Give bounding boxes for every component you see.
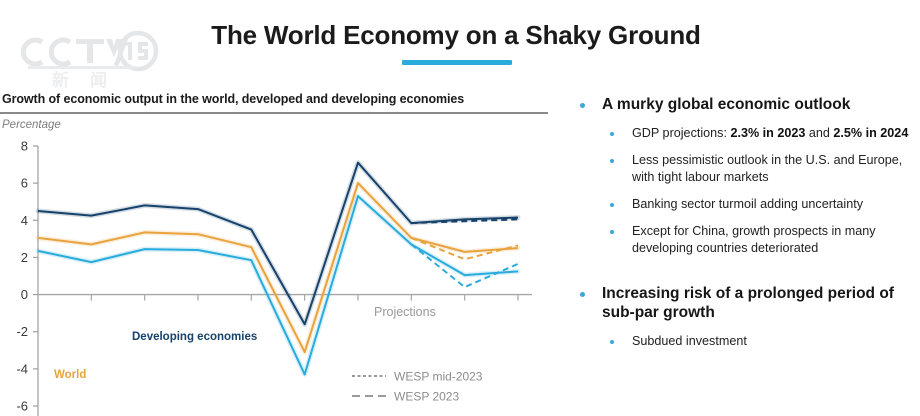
chart-subtitle: Growth of economic output in the world, … bbox=[2, 92, 464, 106]
bullet-text-run: Except for China, growth prospects in ma… bbox=[632, 224, 876, 254]
bullet-secondary: Banking sector turmoil adding uncertaint… bbox=[570, 196, 920, 212]
bullet-secondary-text: GDP projections: 2.3% in 2023 and 2.5% i… bbox=[632, 125, 920, 141]
y-tick-label: 6 bbox=[21, 176, 28, 191]
chart-units-label: Percentage bbox=[2, 119, 61, 131]
bullet-primary-text: Increasing risk of a prolonged period of… bbox=[602, 285, 920, 323]
bullet-secondary: Less pessimistic outlook in the U.S. and… bbox=[570, 152, 920, 185]
chart-panel: Growth of economic output in the world, … bbox=[0, 88, 552, 416]
bullet-secondary-text: Banking sector turmoil adding uncertaint… bbox=[632, 196, 920, 212]
bullet-secondary-text: Less pessimistic outlook in the U.S. and… bbox=[632, 152, 920, 185]
page-title: The World Economy on a Shaky Ground bbox=[176, 20, 736, 51]
svg-text:闻: 闻 bbox=[90, 70, 107, 88]
legend-label: WESP mid-2023 bbox=[394, 370, 483, 384]
bullet-text-run: Less pessimistic outlook in the U.S. and… bbox=[632, 153, 902, 183]
svg-text:新: 新 bbox=[52, 70, 69, 88]
bullet-text-run: and bbox=[805, 126, 833, 140]
bullet-dot-icon bbox=[610, 159, 614, 163]
bullet-secondary-text: Subdued investment bbox=[632, 333, 920, 349]
bullet-group-spacer bbox=[570, 267, 920, 285]
bullet-panel: A murky global economic outlookGDP proje… bbox=[570, 96, 920, 416]
bullet-dot-icon bbox=[610, 132, 614, 136]
y-tick-label: -2 bbox=[16, 324, 28, 339]
legend-label: WESP 2023 bbox=[394, 390, 459, 404]
series-annotation: Developing economies bbox=[132, 331, 257, 343]
slide-root: 新 闻 The World Economy on a Shaky Ground … bbox=[0, 0, 920, 416]
y-tick-label: 0 bbox=[21, 287, 28, 302]
y-tick-label: 4 bbox=[21, 213, 28, 228]
y-tick-label: 2 bbox=[21, 250, 28, 265]
bullet-dot-icon bbox=[610, 203, 614, 207]
title-underline-rule bbox=[402, 60, 512, 65]
series-annotation: World bbox=[54, 369, 86, 381]
chart-divider bbox=[0, 112, 548, 114]
cctv13-logo-watermark: 新 闻 bbox=[14, 18, 164, 88]
bullet-primary: Increasing risk of a prolonged period of… bbox=[570, 285, 920, 323]
bullet-secondary: GDP projections: 2.3% in 2023 and 2.5% i… bbox=[570, 125, 920, 141]
bullet-primary-text: A murky global economic outlook bbox=[602, 96, 920, 115]
line-chart: 86420-2-4-6 Developing economies World D… bbox=[0, 138, 552, 416]
series-line bbox=[38, 183, 518, 352]
bullet-primary: A murky global economic outlook bbox=[570, 96, 920, 115]
bullet-dot-icon bbox=[580, 292, 585, 297]
bullet-secondary-text: Except for China, growth prospects in ma… bbox=[632, 223, 920, 256]
bullet-dot-icon bbox=[610, 340, 614, 344]
bullet-secondary: Except for China, growth prospects in ma… bbox=[570, 223, 920, 256]
bullet-secondary: Subdued investment bbox=[570, 333, 920, 349]
projections-annotation: Projections bbox=[374, 305, 436, 319]
bullet-emphasis: 2.3% in 2023 bbox=[730, 126, 805, 140]
bullet-emphasis: 2.5% in 2024 bbox=[833, 126, 908, 140]
y-tick-label: 8 bbox=[21, 139, 28, 154]
series-halo bbox=[38, 183, 518, 352]
bullet-dot-icon bbox=[580, 103, 585, 108]
y-tick-label: -6 bbox=[16, 399, 28, 414]
bullet-text-run: Subdued investment bbox=[632, 334, 747, 348]
bullet-text-run: GDP projections: bbox=[632, 126, 730, 140]
bullet-dot-icon bbox=[610, 230, 614, 234]
bullet-text-run: Banking sector turmoil adding uncertaint… bbox=[632, 197, 863, 211]
y-tick-label: -4 bbox=[16, 361, 28, 376]
